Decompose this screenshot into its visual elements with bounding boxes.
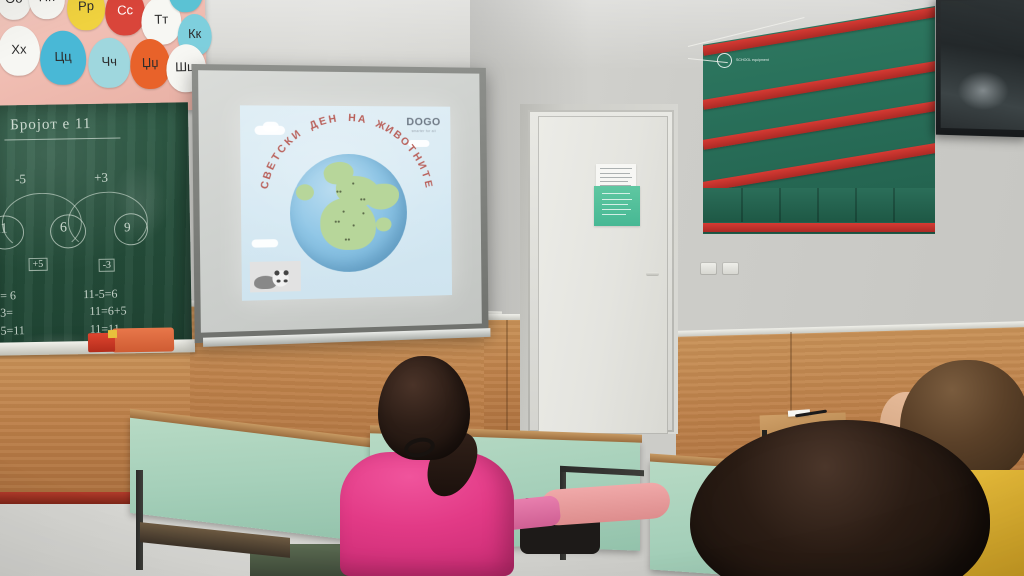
projection-screen: DOGO smarter for all ●● ● ●● ● ●● ●	[192, 64, 489, 343]
alphabet-balloon: Пп	[28, 0, 65, 19]
blackboard-node: 6	[60, 220, 67, 236]
board-sponge	[112, 327, 174, 352]
screen-surface: DOGO smarter for all ●● ● ●● ● ●● ●	[198, 70, 482, 332]
banner-logo: SCHOOL equipment	[717, 53, 769, 68]
banner-pockets	[703, 188, 935, 222]
alphabet-balloon: Цц	[40, 30, 87, 85]
slide-title-char: В	[261, 170, 275, 181]
blackboard-operator: -5	[15, 171, 26, 187]
power-socket[interactable]	[722, 262, 739, 275]
slide-title-char: Н	[328, 113, 338, 126]
blackboard-operator: +3	[94, 170, 108, 186]
alphabet-balloon: Сс	[105, 0, 146, 36]
blackboard-box: +5	[29, 258, 48, 271]
classroom-photo: Оо Пп Рр Сс Тт Мм Кк Хх Цц Чч Џџ	[0, 0, 1024, 576]
door-notice	[594, 186, 640, 226]
wall-tv	[936, 0, 1024, 137]
blackboard: Бројот е 11 -5 +3 11 6 9 +5 -3 -3 = 6 6+…	[0, 102, 192, 353]
alphabet-balloon: Чч	[88, 37, 131, 88]
blackboard-equation: 6+3=	[0, 305, 13, 320]
banner-cloth: SCHOOL equipment	[703, 6, 935, 234]
slide-title-char: С	[258, 180, 272, 190]
banner-band	[702, 143, 938, 192]
wall-organizer-banner: SCHOOL equipment	[703, 6, 935, 234]
chalk-piece	[108, 330, 117, 338]
banner-band-bottom	[703, 223, 941, 232]
alphabet-balloon: Рр	[67, 0, 106, 31]
banner-band	[702, 101, 938, 150]
banner-band	[702, 61, 938, 110]
slide-title-char: Е	[318, 115, 328, 129]
blackboard-equation: 11-5=6	[83, 287, 118, 303]
slide-title-char: Т	[419, 170, 432, 180]
tv-reflection	[957, 71, 1009, 110]
wainscot-seam	[506, 320, 508, 448]
panda-illustration	[250, 261, 301, 293]
slide-title-char: Д	[308, 118, 320, 132]
blackboard-heading: Бројот е 11	[10, 116, 92, 134]
slide-title-char: Е	[422, 179, 435, 188]
door-handle[interactable]	[646, 272, 659, 276]
blackboard-box: -3	[99, 259, 116, 272]
blackboard-equation: -3 = 6	[0, 288, 16, 303]
projected-slide: DOGO smarter for all ●● ● ●● ● ●● ●	[240, 105, 452, 300]
blackboard-equation: 11=6+5	[89, 303, 126, 319]
power-socket[interactable]	[700, 262, 717, 275]
banner-band	[702, 7, 938, 56]
alphabet-balloon: Хх	[0, 25, 40, 76]
alphabet-display-board: Оо Пп Рр Сс Тт Мм Кк Хх Цц Чч Џџ	[0, 0, 207, 114]
slide-title-char: А	[357, 113, 366, 126]
banner-logo-text: SCHOOL equipment	[736, 58, 769, 63]
tv-screen	[941, 0, 1024, 130]
alphabet-balloon: Оо	[0, 0, 31, 20]
blackboard-node: 11	[0, 221, 8, 237]
desk-leg	[136, 470, 143, 570]
slide-title-char: Н	[348, 112, 356, 124]
alphabet-balloon: Џџ	[130, 39, 171, 90]
